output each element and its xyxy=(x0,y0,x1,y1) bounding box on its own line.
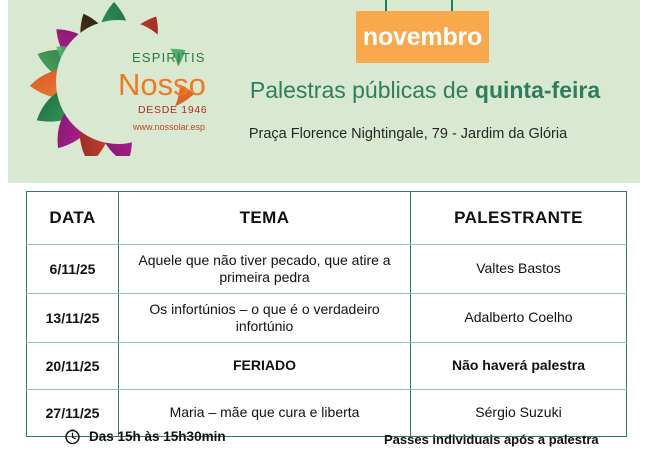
month-badge-hanger: novembro xyxy=(356,0,489,63)
table-row: 13/11/25 Os infortúnios – o que é o verd… xyxy=(27,294,627,343)
cell-date: 6/11/25 xyxy=(27,245,119,294)
schedule-table: DATA TEMA PALESTRANTE 6/11/25 Aquele que… xyxy=(26,191,627,437)
cell-theme-text: Maria – mãe que cura e liberta xyxy=(125,404,404,422)
column-header-date: DATA xyxy=(27,192,119,245)
logo-line1: ESPIRITISMO xyxy=(132,50,206,65)
logo-line3: DESDE 1946 xyxy=(138,104,206,116)
page-title-prefix: Palestras públicas de xyxy=(250,77,475,103)
cell-speaker-text: Valtes Bastos xyxy=(417,260,620,278)
cell-speaker: Valtes Bastos xyxy=(411,245,627,294)
clock-icon xyxy=(64,428,81,445)
cell-theme: FERIADO xyxy=(119,343,411,390)
footer: Das 15h às 15h30min Passes individuais a… xyxy=(0,428,649,464)
header-band: ESPIRITISMO Nosso Lar DESDE 1946 www.nos… xyxy=(8,0,640,183)
schedule-table-head: DATA TEMA PALESTRANTE xyxy=(27,192,627,245)
time-note: Das 15h às 15h30min xyxy=(64,428,226,445)
month-badge: novembro xyxy=(356,11,489,63)
table-row: 20/11/25 FERIADO Não haverá palestra xyxy=(27,343,627,390)
cell-speaker-text: Adalberto Coelho xyxy=(417,309,620,327)
cell-speaker: Não haverá palestra xyxy=(411,343,627,390)
cell-theme: Os infortúnios – o que é o verdadeiro in… xyxy=(119,294,411,343)
venue-address: Praça Florence Nightingale, 79 - Jardim … xyxy=(168,126,648,143)
page-title: Palestras públicas de quinta-feira xyxy=(206,78,644,103)
passes-note: Passes individuais após a palestra xyxy=(384,432,599,447)
table-header-row: DATA TEMA PALESTRANTE xyxy=(27,192,627,245)
cell-theme-text: Os infortúnios – o que é o verdadeiro in… xyxy=(125,301,404,336)
time-label: Das 15h às 15h30min xyxy=(89,429,226,444)
cell-date: 20/11/25 xyxy=(27,343,119,390)
page-title-highlight: quinta-feira xyxy=(475,77,600,103)
cell-theme-text: Aquele que não tiver pecado, que atire a… xyxy=(125,252,404,287)
column-header-speaker: PALESTRANTE xyxy=(411,192,627,245)
month-badge-label: novembro xyxy=(363,25,482,50)
cell-speaker-text: Não haverá palestra xyxy=(417,357,620,375)
schedule-table-body: 6/11/25 Aquele que não tiver pecado, que… xyxy=(27,245,627,437)
cell-date: 13/11/25 xyxy=(27,294,119,343)
cell-speaker: Adalberto Coelho xyxy=(411,294,627,343)
cell-speaker-text: Sérgio Suzuki xyxy=(417,404,620,422)
column-header-theme: TEMA xyxy=(119,192,411,245)
cell-theme-text: FERIADO xyxy=(125,357,404,375)
table-row: 6/11/25 Aquele que não tiver pecado, que… xyxy=(27,245,627,294)
cell-theme: Aquele que não tiver pecado, que atire a… xyxy=(119,245,411,294)
logo-line2: Nosso Lar xyxy=(118,67,206,102)
